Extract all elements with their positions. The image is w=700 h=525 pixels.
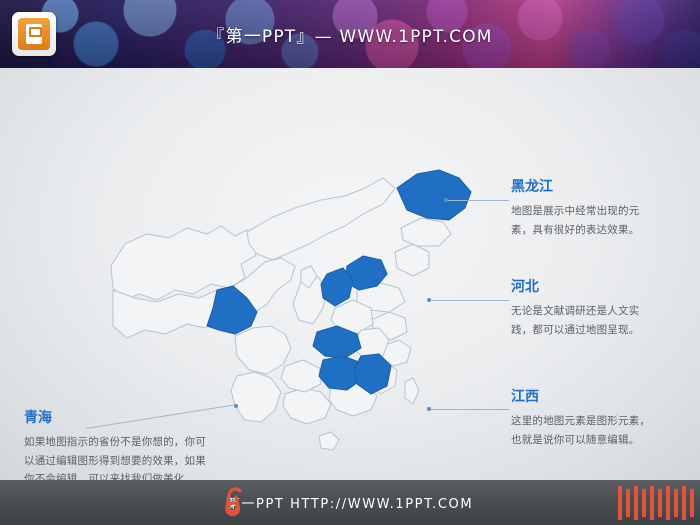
callout-body-hebei: 无论是文献调研还是人文实 践，都可以通过地图呈现。 <box>511 302 689 339</box>
callout-qinghai[interactable]: 青海 如果地图指示的省份不是你想的，你可 以通过编辑图形得到想要的效果，如果 你… <box>24 411 244 489</box>
leader-dot-heilongjiang <box>444 198 448 202</box>
province-liaoning <box>395 244 429 276</box>
highlight-hunan <box>319 356 361 390</box>
leader-line-jiangxi <box>430 409 509 410</box>
province-sichuan <box>235 326 291 374</box>
leader-line-heilongjiang <box>447 200 509 201</box>
callout-line: 以通过编辑图形得到想要的效果，如果 <box>24 452 244 470</box>
slide-canvas: 『第一PPT』— WWW.1PPT.COM <box>0 0 700 525</box>
header-title: 『第一PPT』— WWW.1PPT.COM <box>0 0 700 68</box>
province-jilin <box>401 218 451 246</box>
callout-line: 素，具有很好的表达效果。 <box>511 221 689 239</box>
header-bar: 『第一PPT』— WWW.1PPT.COM <box>0 0 700 68</box>
footer-text: 第一PPT HTTP://WWW.1PPT.COM <box>0 480 700 525</box>
callout-title-jiangxi: 江西 <box>511 390 689 405</box>
callout-heilongjiang[interactable]: 黑龙江 地图是展示中经常出现的元 素，具有很好的表达效果。 <box>511 180 689 239</box>
leader-dot-hebei <box>427 298 431 302</box>
highlight-heilongjiang <box>397 170 471 220</box>
slide-content-area: 黑龙江 地图是展示中经常出现的元 素，具有很好的表达效果。 河北 无论是文献调研… <box>0 68 700 480</box>
leader-dot-qinghai <box>234 404 238 408</box>
footer-stripes <box>618 480 694 525</box>
paperclip-icon <box>222 487 248 517</box>
leader-line-hebei <box>430 300 509 301</box>
callout-body-heilongjiang: 地图是展示中经常出现的元 素，具有很好的表达效果。 <box>511 202 689 239</box>
footer-bar: 第一PPT HTTP://WWW.1PPT.COM <box>0 480 700 525</box>
province-inner-mongolia <box>247 178 395 260</box>
callout-title-heilongjiang: 黑龙江 <box>511 180 689 195</box>
callout-line: 地图是展示中经常出现的元 <box>511 202 689 220</box>
callout-title-qinghai: 青海 <box>24 411 244 426</box>
highlight-shanxi <box>321 268 353 306</box>
callout-hebei[interactable]: 河北 无论是文献调研还是人文实 践，都可以通过地图呈现。 <box>511 280 689 339</box>
province-guangxi <box>283 388 331 424</box>
callout-line: 践，都可以通过地图呈现。 <box>511 321 689 339</box>
callout-jiangxi[interactable]: 江西 这里的地图元素是图形元素， 也就是说你可以随意编辑。 <box>511 390 689 449</box>
callout-body-jiangxi: 这里的地图元素是图形元素， 也就是说你可以随意编辑。 <box>511 412 689 449</box>
callout-line: 也就是说你可以随意编辑。 <box>511 431 689 449</box>
callout-title-hebei: 河北 <box>511 280 689 295</box>
callout-line: 如果地图指示的省份不是你想的，你可 <box>24 433 244 451</box>
province-taiwan <box>405 378 419 404</box>
callout-line: 无论是文献调研还是人文实 <box>511 302 689 320</box>
callout-line: 这里的地图元素是图形元素， <box>511 412 689 430</box>
province-hainan <box>319 432 339 450</box>
province-guizhou <box>281 360 321 392</box>
leader-dot-jiangxi <box>427 407 431 411</box>
